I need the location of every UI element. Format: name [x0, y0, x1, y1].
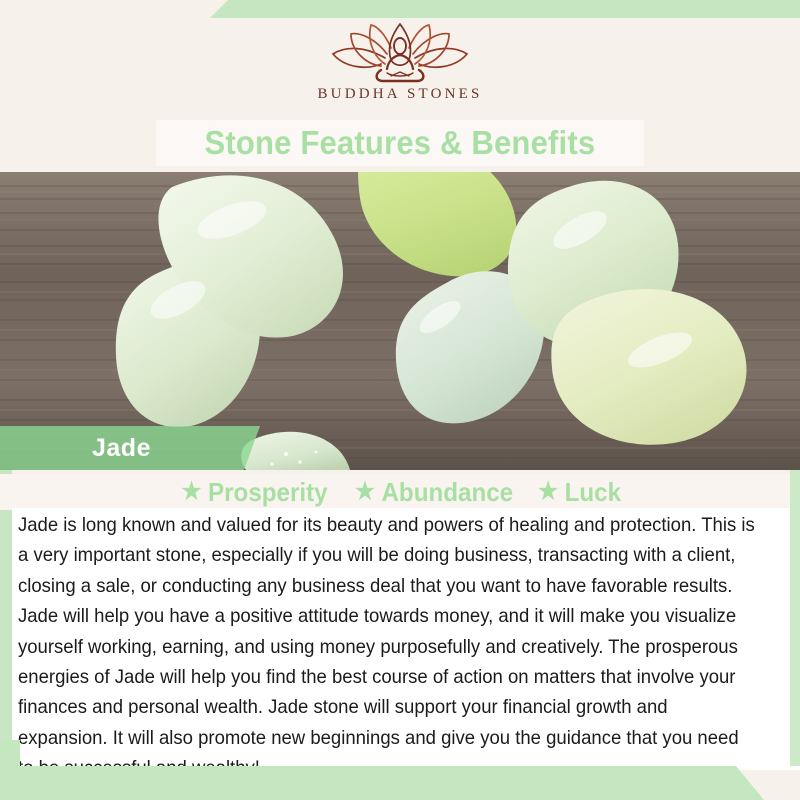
star-icon: ★	[181, 480, 201, 504]
description-panel: Jade is long known and valued for its be…	[12, 508, 800, 770]
right-accent-strip	[790, 470, 800, 766]
top-decor-band	[0, 0, 800, 18]
star-icon: ★	[538, 480, 558, 504]
star-icon: ★	[355, 480, 375, 504]
benefit-label: Prosperity	[208, 477, 328, 508]
benefit-item-abundance: ★ Abundance	[355, 477, 513, 508]
benefit-item-prosperity: ★ Prosperity	[181, 477, 327, 508]
brand-header: BUDDHA STONES	[0, 18, 800, 118]
benefit-label: Luck	[565, 477, 621, 508]
stone-name: Jade	[92, 434, 151, 463]
benefit-label: Abundance	[381, 477, 513, 508]
poster-root: BUDDHA STONES Stone Features & Benefits	[0, 0, 800, 800]
benefits-row: ★ Prosperity ★ Abundance ★ Luck	[0, 474, 800, 510]
stone-photo	[0, 172, 800, 470]
brand-name: BUDDHA STONES	[317, 86, 482, 103]
description-text: Jade is long known and valued for its be…	[18, 510, 759, 784]
benefit-item-luck: ★ Luck	[538, 477, 621, 508]
lotus-meditation-icon	[325, 22, 475, 84]
title-banner: Stone Features & Benefits	[156, 120, 644, 166]
page-title: Stone Features & Benefits	[205, 124, 596, 162]
stone-name-band: Jade	[0, 426, 260, 470]
bottom-decor-band	[0, 766, 800, 800]
